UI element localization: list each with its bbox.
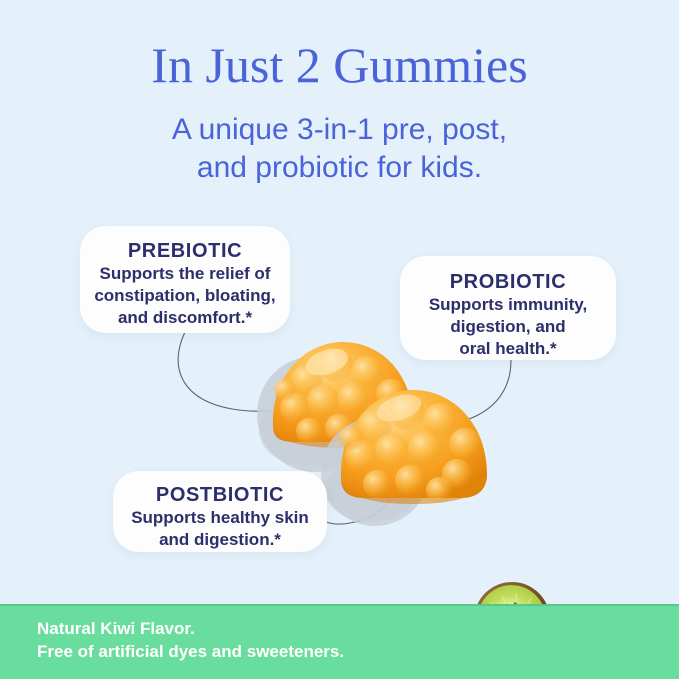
product-infographic: In Just 2 Gummies A unique 3-in-1 pre, p… (0, 0, 679, 679)
callout-body-line-1: Supports immunity, (400, 294, 616, 316)
callout-title-postbiotic: POSTBIOTIC (113, 483, 327, 507)
subtitle-line-1: A unique 3-in-1 pre, post, (0, 111, 679, 149)
callout-body-probiotic: Supports immunity, digestion, and oral h… (400, 294, 616, 360)
banner-text: Natural Kiwi Flavor. Free of artificial … (37, 617, 344, 663)
callout-title-prebiotic: PREBIOTIC (80, 239, 290, 263)
callout-card-prebiotic: PREBIOTIC Supports the relief of constip… (80, 226, 290, 333)
bottom-banner: Natural Kiwi Flavor. Free of artificial … (0, 604, 679, 679)
callout-body-line-1: Supports the relief of (80, 263, 290, 285)
subtitle-line-2: and probiotic for kids. (0, 149, 679, 187)
callout-body-line-3: oral health.* (400, 338, 616, 360)
banner-top-divider (0, 604, 679, 606)
callout-body-prebiotic: Supports the relief of constipation, blo… (80, 263, 290, 329)
page-title: In Just 2 Gummies (0, 36, 679, 94)
callout-body-line-1: Supports healthy skin (113, 507, 327, 529)
callout-body-postbiotic: Supports healthy skin and digestion.* (113, 507, 327, 551)
callout-body-line-2: and digestion.* (113, 529, 327, 551)
callout-body-line-3: and discomfort.* (80, 307, 290, 329)
banner-line-2: Free of artificial dyes and sweeteners. (37, 640, 344, 663)
banner-line-1: Natural Kiwi Flavor. (37, 617, 344, 640)
gummy-lower (313, 362, 513, 552)
callout-body-line-2: digestion, and (400, 316, 616, 338)
callout-title-probiotic: PROBIOTIC (400, 270, 616, 294)
page-subtitle: A unique 3-in-1 pre, post, and probiotic… (0, 111, 679, 187)
callout-body-line-2: constipation, bloating, (80, 285, 290, 307)
callout-card-probiotic: PROBIOTIC Supports immunity, digestion, … (400, 256, 616, 360)
callout-card-postbiotic: POSTBIOTIC Supports healthy skin and dig… (113, 471, 327, 552)
